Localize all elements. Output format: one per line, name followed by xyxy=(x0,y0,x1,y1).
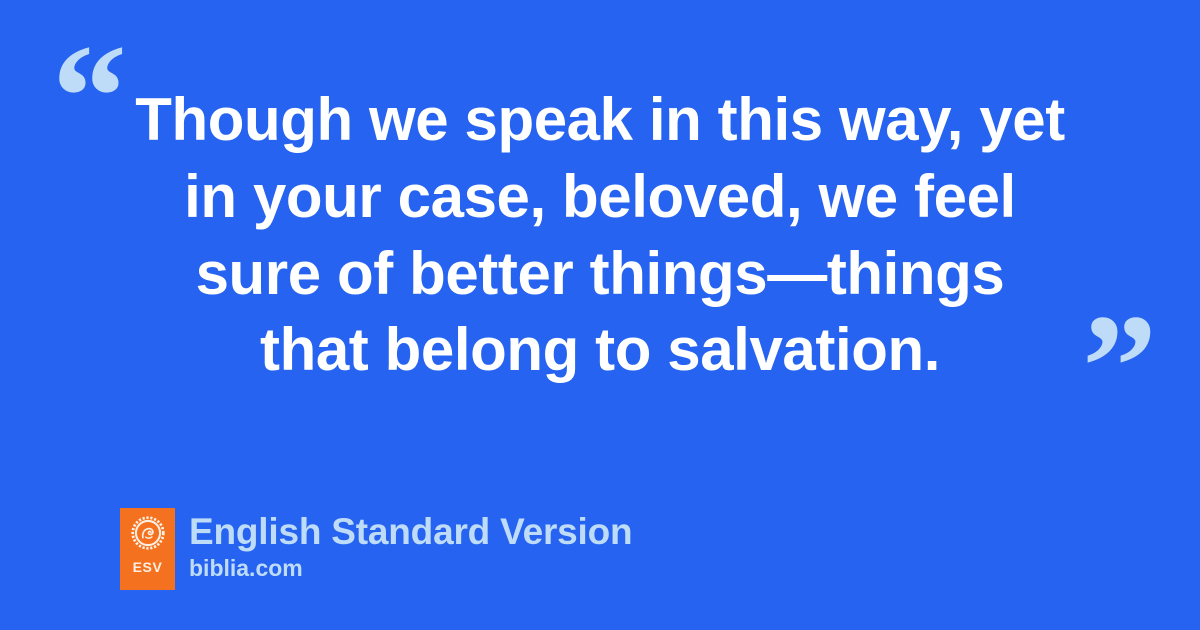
verse-line-4: that belong to salvation. xyxy=(100,312,1100,389)
verse-line-2: in your case, beloved, we feel xyxy=(100,159,1100,236)
attribution-block: ESV English Standard Version biblia.com xyxy=(120,508,632,590)
esv-badge: ESV xyxy=(120,508,175,590)
bible-version-name: English Standard Version xyxy=(189,512,632,552)
esv-crown-seal-icon xyxy=(131,516,165,550)
verse-line-3: sure of better things—things xyxy=(100,236,1100,313)
closing-quote-icon: ” xyxy=(1082,292,1157,442)
verse-quote-card: “ Though we speak in this way, yet in yo… xyxy=(0,0,1200,630)
website-label: biblia.com xyxy=(189,556,632,581)
verse-line-1: Though we speak in this way, yet xyxy=(100,82,1100,159)
esv-abbreviation-label: ESV xyxy=(133,559,163,575)
verse-text: Though we speak in this way, yet in your… xyxy=(100,82,1100,389)
attribution-text: English Standard Version biblia.com xyxy=(189,508,632,581)
